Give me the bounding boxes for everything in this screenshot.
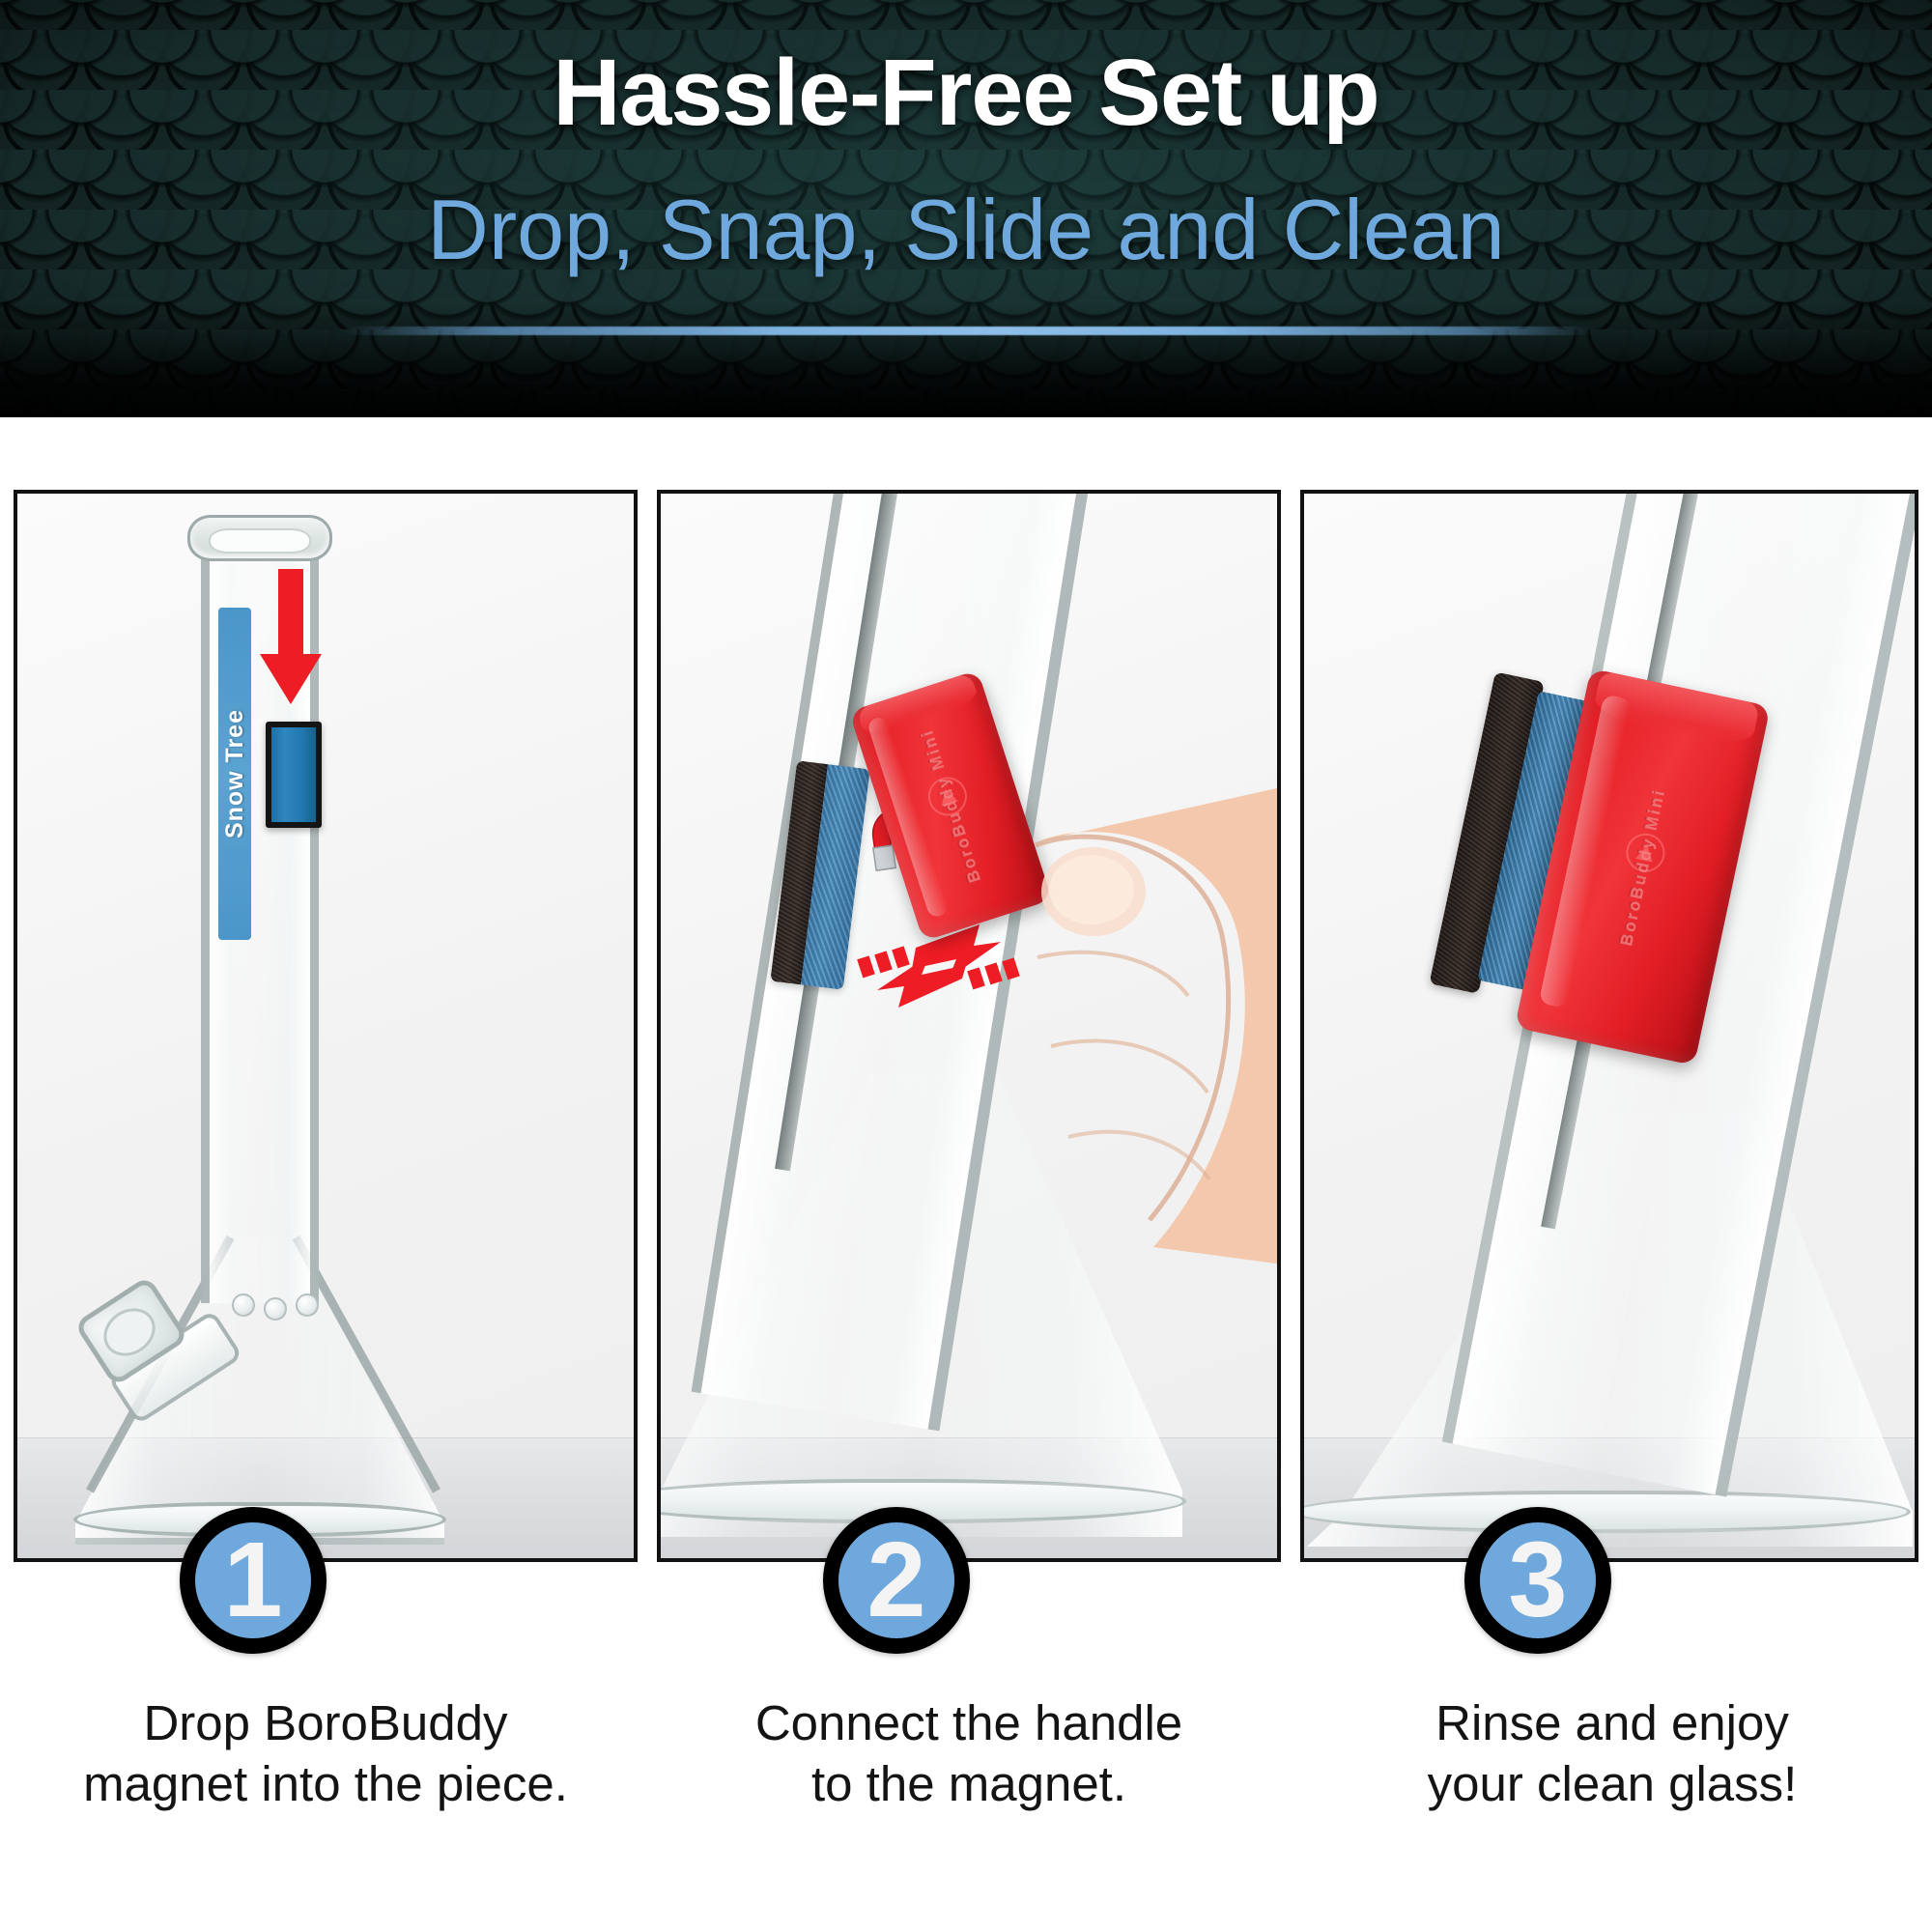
step-3-caption-line2: your clean glass!	[1303, 1753, 1921, 1814]
title-underline-divider	[343, 327, 1594, 335]
step-2-caption-line1: Connect the handle	[660, 1692, 1278, 1753]
down-arrow-icon	[258, 569, 324, 706]
ice-pinch-center	[264, 1297, 287, 1321]
step-1-caption: Drop BoroBuddy magnet into the piece.	[16, 1692, 635, 1814]
step-3-caption-line1: Rinse and enjoy	[1303, 1692, 1921, 1753]
beaker-base	[1300, 1491, 1911, 1533]
glass-brand-logo-text: Snow Tree	[221, 709, 249, 838]
ice-pinch-left	[232, 1293, 255, 1317]
step-badge-1: 1	[180, 1507, 327, 1654]
steps-panel-row: Snow Tree	[0, 417, 1932, 1538]
page-subtitle: Drop, Snap, Slide and Clean	[0, 184, 1932, 275]
glass-mouthpiece-opening	[209, 528, 311, 554]
step-2-caption-line2: to the magnet.	[660, 1753, 1278, 1814]
step-2-caption: Connect the handle to the magnet.	[660, 1692, 1278, 1814]
step-2-photo-panel: BoroBuddy Mini	[657, 490, 1281, 1562]
glass-brand-logo: Snow Tree	[218, 608, 251, 940]
hand-icon	[980, 668, 1281, 1266]
step-badge-2: 2	[823, 1507, 970, 1654]
step-1-photo-panel: Snow Tree	[14, 490, 638, 1562]
step-badge-3: 3	[1464, 1507, 1611, 1654]
step-3-caption: Rinse and enjoy your clean glass!	[1303, 1692, 1921, 1814]
page-title: Hassle-Free Set up	[0, 43, 1932, 144]
step-3-photo-panel: BoroBuddy Mini	[1300, 490, 1918, 1562]
step-1-caption-line2: magnet into the piece.	[16, 1753, 635, 1814]
step-1-caption-line1: Drop BoroBuddy	[16, 1692, 635, 1753]
ice-pinch-right	[296, 1293, 319, 1317]
header-banner: Hassle-Free Set up Drop, Snap, Slide and…	[0, 0, 1932, 417]
borobuddy-magnet-inside-glass	[266, 722, 322, 828]
